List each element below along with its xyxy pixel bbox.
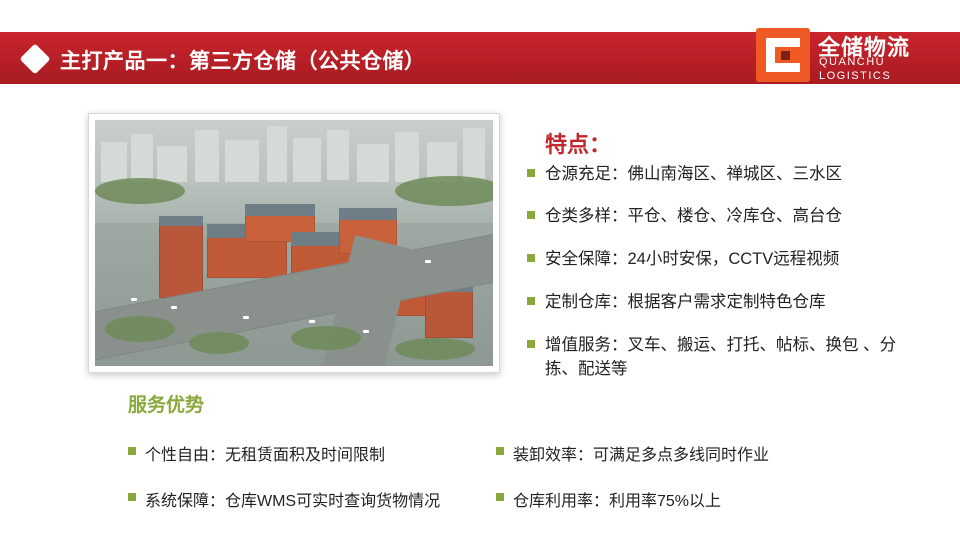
service-item: 系统保障：仓库WMS可实时查询货物情况 (145, 487, 440, 511)
feature-item: 定制仓库：根据客户需求定制特色仓库 (545, 291, 930, 315)
feature-item: 增值服务：叉车、搬运、打托、帖标、换包 、分拣、配送等 (545, 334, 923, 382)
features-heading: 特点： (545, 127, 611, 159)
service-advantage-heading: 服务优势 (128, 390, 204, 417)
feature-item: 仓类多样：平仓、楼仓、冷库仓、高台仓 (545, 205, 930, 229)
service-item: 仓库利用率：利用率75%以上 (513, 487, 721, 511)
service-item-label: 系统保障：仓库WMS可实时查询货物情况 (145, 493, 440, 510)
service-item-label: 装卸效率：可满足多点多线同时作业 (513, 447, 769, 464)
feature-item-label: 定制仓库：根据客户需求定制特色仓库 (545, 293, 826, 311)
bullet-icon (527, 211, 535, 219)
aerial-warehouse-photo (88, 113, 500, 373)
service-item: 装卸效率：可满足多点多线同时作业 (513, 441, 769, 465)
bullet-icon (496, 447, 504, 455)
bullet-icon (527, 297, 535, 305)
service-item-label: 个性自由：无租赁面积及时间限制 (145, 447, 385, 464)
logo-company-name-en-line1: QUANCHU (819, 56, 885, 68)
feature-item: 仓源充足：佛山南海区、禅城区、三水区 (545, 163, 930, 187)
bullet-icon (496, 493, 504, 501)
bullet-icon (128, 447, 136, 455)
page-title: 主打产品一：第三方仓储（公共仓储） (60, 45, 426, 75)
feature-item: 安全保障：24小时安保，CCTV远程视频 (545, 248, 930, 272)
bullet-icon (527, 254, 535, 262)
service-item-label: 仓库利用率：利用率75%以上 (513, 493, 721, 510)
bullet-icon (527, 340, 535, 348)
bullet-icon (527, 169, 535, 177)
logo-company-name-en-line2: LOGISTICS (819, 70, 891, 82)
feature-item-label: 安全保障：24小时安保，CCTV远程视频 (545, 250, 839, 268)
feature-item-label: 仓类多样：平仓、楼仓、冷库仓、高台仓 (545, 207, 842, 225)
brand-logo: 全储物流 QUANCHU LOGISTICS (756, 22, 946, 88)
bullet-icon (128, 493, 136, 501)
feature-item-label: 仓源充足：佛山南海区、禅城区、三水区 (545, 165, 842, 183)
feature-item-label: 增值服务：叉车、搬运、打托、帖标、换包 、分拣、配送等 (545, 336, 896, 378)
service-item: 个性自由：无租赁面积及时间限制 (145, 441, 385, 465)
quanchu-logo-icon (756, 28, 810, 82)
